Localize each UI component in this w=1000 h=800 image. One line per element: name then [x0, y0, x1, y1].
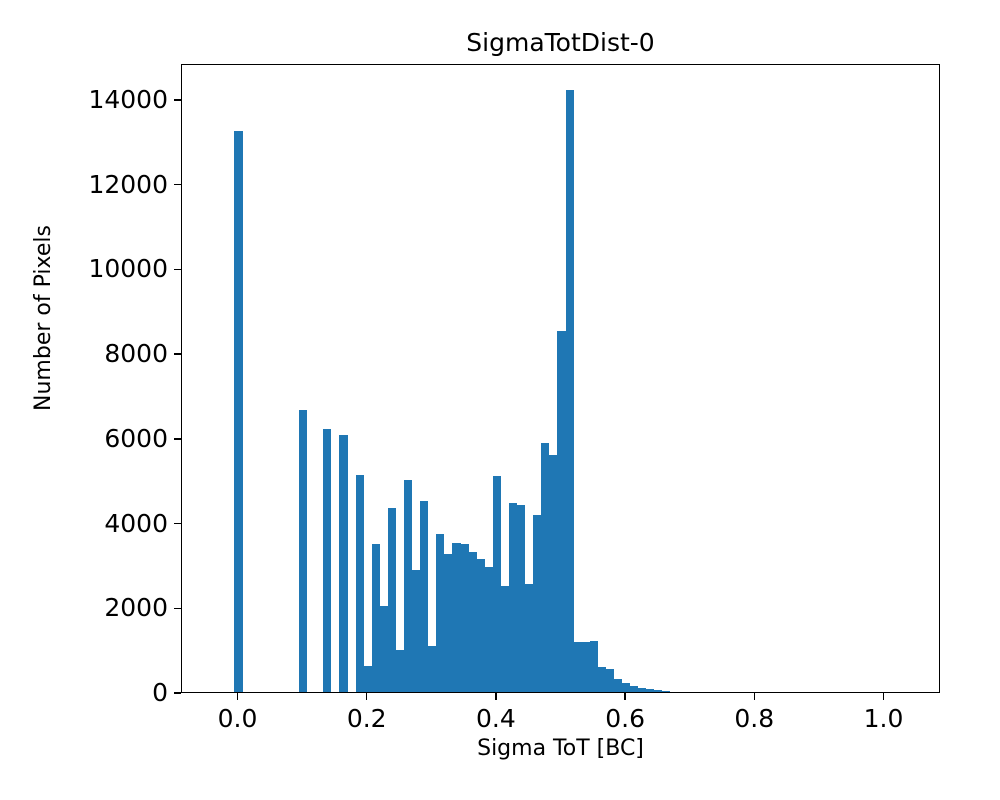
- histogram-bar: [654, 690, 662, 692]
- histogram-bar: [436, 534, 444, 692]
- histogram-bar: [582, 642, 590, 692]
- chart-title: SigmaTotDist-0: [181, 28, 940, 58]
- y-axis-tick-mark: [174, 184, 181, 185]
- histogram-bar: [356, 475, 364, 692]
- x-axis-tick-label: 0.6: [605, 704, 645, 733]
- histogram-bar: [404, 480, 412, 692]
- histogram-bar: [412, 570, 420, 692]
- x-axis-tick-label: 0.8: [734, 704, 774, 733]
- histogram-bar: [461, 544, 469, 692]
- y-axis-tick-mark: [174, 269, 181, 270]
- y-axis-label: Number of Pixels: [31, 168, 57, 468]
- histogram-bar: [557, 331, 565, 692]
- x-axis-label: Sigma ToT [BC]: [181, 736, 940, 762]
- x-axis-tick-mark: [495, 693, 496, 700]
- y-axis-tick-label: 4000: [104, 511, 168, 536]
- x-axis-tick-mark: [624, 693, 625, 700]
- histogram-bar: [477, 559, 485, 692]
- y-axis-tick-mark: [174, 523, 181, 524]
- histogram-bar: [598, 667, 606, 692]
- x-axis-tick-mark: [237, 693, 238, 700]
- histogram-bar: [339, 435, 347, 692]
- histogram-bar: [574, 642, 582, 692]
- histogram-bar: [630, 686, 638, 692]
- y-axis-tick-mark: [174, 353, 181, 354]
- histogram-bars: [182, 65, 939, 692]
- histogram-bar: [638, 688, 646, 692]
- histogram-bar: [646, 689, 654, 692]
- y-axis-tick-mark: [174, 692, 181, 693]
- histogram-bar: [606, 669, 614, 692]
- histogram-bar: [509, 503, 517, 692]
- histogram-bar: [662, 691, 670, 692]
- x-axis-tick-label: 1.0: [864, 704, 904, 733]
- x-axis-tick-mark: [754, 693, 755, 700]
- plot-area: [181, 64, 940, 693]
- x-axis-tick-label: 0.0: [218, 704, 258, 733]
- histogram-bar: [388, 508, 396, 692]
- histogram-bar: [396, 650, 404, 692]
- histogram-bar: [364, 666, 372, 692]
- y-axis-tick-label: 2000: [104, 595, 168, 620]
- histogram-bar: [590, 641, 598, 692]
- histogram-bar: [380, 606, 388, 692]
- x-axis-tick-label: 0.4: [476, 704, 516, 733]
- histogram-bar: [533, 515, 541, 692]
- histogram-bar: [549, 455, 557, 692]
- y-axis-tick-labels: 02000400060008000100001200014000: [0, 0, 168, 800]
- histogram-bar: [452, 543, 460, 692]
- histogram-bar: [493, 476, 501, 692]
- y-axis-tick-label: 6000: [104, 426, 168, 451]
- y-axis-tick-label: 0: [152, 680, 168, 705]
- histogram-bar: [485, 567, 493, 692]
- x-axis-tick-mark: [366, 693, 367, 700]
- histogram-bar: [469, 552, 477, 692]
- histogram-bar: [323, 429, 331, 692]
- histogram-bar: [622, 683, 630, 692]
- x-axis-tick-mark: [883, 693, 884, 700]
- histogram-bar: [372, 544, 380, 692]
- y-axis-tick-mark: [174, 438, 181, 439]
- histogram-bar: [428, 646, 436, 692]
- y-axis-tick-label: 14000: [88, 87, 168, 112]
- histogram-bar: [501, 586, 509, 692]
- x-axis-tick-label: 0.2: [347, 704, 387, 733]
- histogram-bar: [299, 410, 307, 692]
- histogram-bar: [420, 501, 428, 692]
- y-axis-tick-label: 12000: [88, 172, 168, 197]
- y-axis-tick-label: 10000: [88, 256, 168, 281]
- histogram-figure: SigmaTotDist-0 0200040006000800010000120…: [0, 0, 1000, 800]
- histogram-bar: [444, 554, 452, 692]
- y-axis-tick-label: 8000: [104, 341, 168, 366]
- y-axis-tick-mark: [174, 99, 181, 100]
- histogram-bar: [234, 131, 242, 692]
- histogram-bar: [525, 584, 533, 692]
- histogram-bar: [566, 90, 574, 692]
- histogram-bar: [614, 679, 622, 692]
- y-axis-tick-mark: [174, 608, 181, 609]
- histogram-bar: [541, 443, 549, 692]
- histogram-bar: [517, 505, 525, 692]
